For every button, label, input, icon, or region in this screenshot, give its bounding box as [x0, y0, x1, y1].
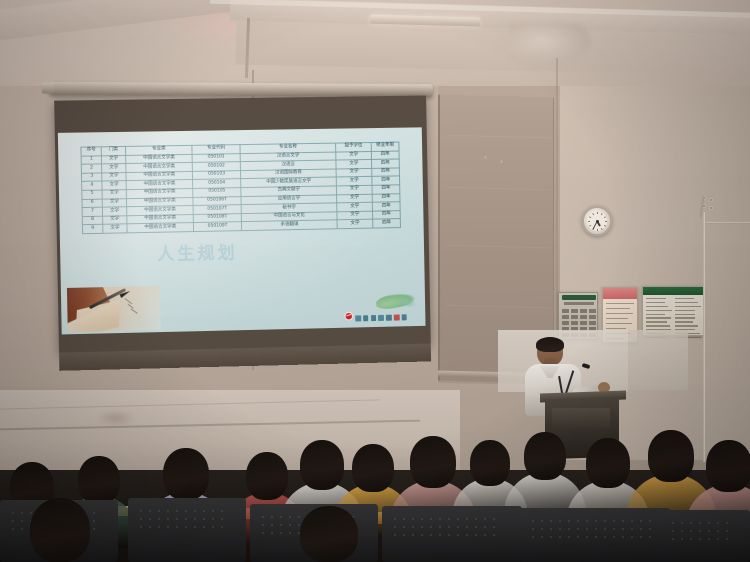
- lecture-hall-photo: 人生规划 序号 门类 专业类 专业代码 专业名称: [0, 0, 750, 562]
- chair-back: [382, 506, 522, 562]
- audience-member-head: [352, 444, 394, 492]
- audience-front-head: [300, 506, 358, 562]
- audience-front-head: [30, 498, 90, 562]
- screen-roller-cap: [42, 83, 54, 94]
- audience-member-head: [246, 452, 288, 500]
- screen-surface: 人生规划 序号 门类 专业类 专业代码 专业名称: [58, 127, 426, 334]
- table-cell-1: 文学: [103, 224, 127, 233]
- table-cell-0: 6: [82, 199, 102, 208]
- audience-member-head: [524, 432, 566, 480]
- wall-clock-icon: [582, 206, 612, 236]
- chair-perforation: [394, 518, 510, 540]
- presenter-wall-right: [628, 330, 688, 390]
- col-header-category: 门类: [101, 146, 125, 155]
- audience-member-head: [648, 430, 694, 482]
- table-cell-1: 文学: [101, 155, 125, 164]
- table-cell-0: 4: [82, 181, 102, 190]
- screen-frame: 人生规划 序号 门类 专业类 专业代码 专业名称: [54, 96, 431, 353]
- table-cell-0: 9: [82, 225, 102, 234]
- chair-perforation: [672, 522, 738, 544]
- table-cell-4: 手语翻译: [241, 220, 337, 230]
- table-cell-1: 文学: [102, 164, 126, 173]
- screen-roller-bar[interactable]: [49, 82, 433, 97]
- table-cell-0: 1: [81, 155, 101, 164]
- notice-poster-green: [642, 286, 704, 336]
- audience-member-head: [163, 448, 209, 500]
- presenter-hair: [536, 337, 564, 352]
- table-cell-0: 5: [82, 190, 102, 199]
- chair-back: [660, 510, 750, 562]
- audience-member-head: [410, 436, 456, 488]
- slide-watermark: 人生规划: [157, 238, 238, 265]
- wall-scuff: [96, 410, 136, 426]
- table-cell-0: 2: [81, 164, 101, 173]
- table-cell-3: 050109T: [193, 222, 241, 232]
- audience-member-head: [706, 440, 750, 492]
- table-cell-0: 7: [82, 207, 102, 216]
- chair-back: [128, 498, 246, 562]
- ceiling-bulge: [510, 24, 590, 64]
- table-cell-5: 文学: [337, 219, 373, 228]
- podium-panel: [552, 408, 610, 428]
- audience-member-head: [78, 456, 120, 504]
- wall-pipe-branch: [706, 222, 750, 224]
- chair-back: [520, 508, 670, 562]
- organization-logo-icon: [344, 295, 420, 323]
- calligraphy-brush-icon: [67, 286, 161, 332]
- table-cell-6: 四年: [373, 219, 401, 228]
- audience-member-head: [470, 440, 510, 486]
- audience-member-head: [300, 440, 344, 490]
- projector-screen[interactable]: 人生规划 序号 门类 专业类 专业代码 专业名称: [54, 85, 439, 364]
- wall-pipe: [703, 212, 706, 462]
- presentation-slide: 人生规划 序号 门类 专业类 专业代码 专业名称: [58, 127, 426, 334]
- audience-member-head: [586, 438, 630, 488]
- major-catalogue-table: 序号 门类 专业类 专业代码 专业名称 授予学位 修业年限 1文学中国语言文学类…: [80, 142, 401, 235]
- table-cell-2: 中国语言文学类: [127, 223, 194, 233]
- table-cell-0: 3: [81, 173, 101, 182]
- col-header-seq: 序号: [81, 147, 101, 156]
- chair-perforation: [532, 520, 658, 542]
- table-cell-0: 8: [82, 216, 102, 225]
- table-body: 1文学中国语言文学类050101汉语言文学文学四年2文学中国语言文学类05010…: [81, 151, 400, 234]
- chair-perforation: [140, 510, 234, 532]
